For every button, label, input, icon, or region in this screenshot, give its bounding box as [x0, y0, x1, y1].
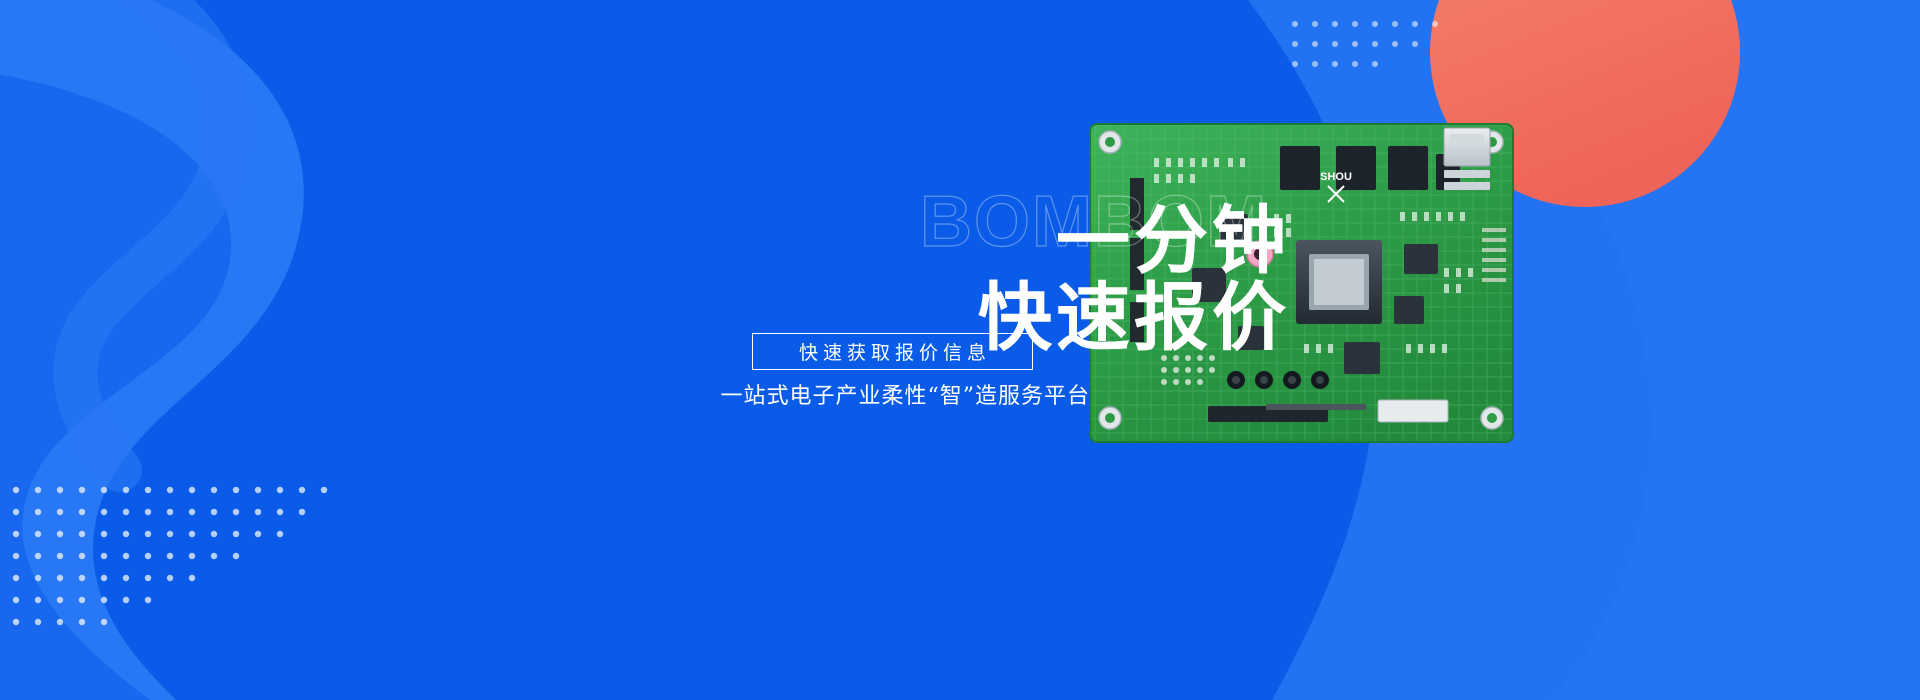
pcb-board-image: SHOU: [1088, 118, 1515, 453]
pin-headers-left: [1130, 178, 1144, 342]
central-processor-chip: [1296, 240, 1382, 324]
pcb-illustration: SHOU: [1088, 118, 1515, 453]
silkscreen-text: SHOU: [1320, 171, 1352, 183]
background-decoration: [0, 0, 1920, 700]
audio-jack-connector: [1247, 241, 1273, 267]
background-shapes: [0, 0, 1920, 700]
promo-banner: SHOU: [0, 0, 1920, 700]
